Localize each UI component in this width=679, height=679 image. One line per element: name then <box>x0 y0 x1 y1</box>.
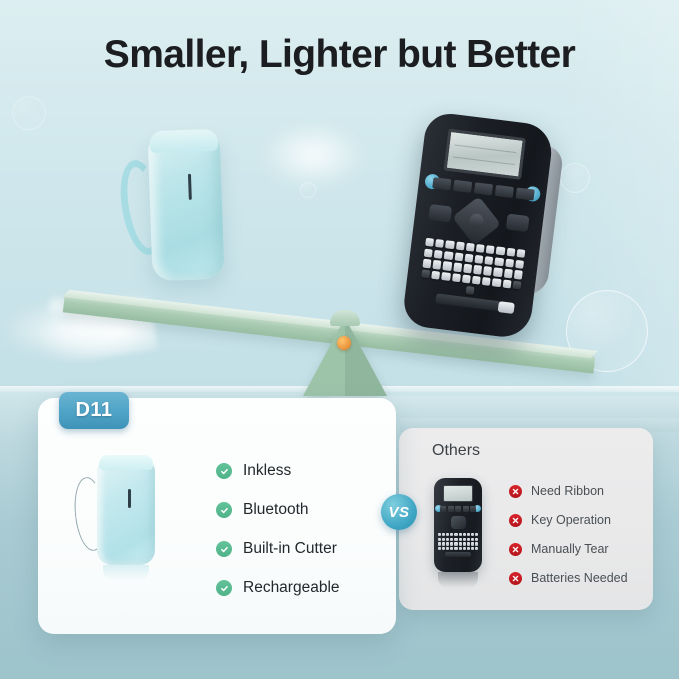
list-item-label: Need Ribbon <box>531 484 604 498</box>
check-circle-icon <box>216 502 232 518</box>
handheld-label-maker-icon <box>401 111 554 340</box>
list-item-label: Rechargeable <box>243 579 340 597</box>
printer-reflection <box>103 565 149 581</box>
d11-badge-label: D11 <box>75 399 112 422</box>
printer-body <box>148 135 225 281</box>
handheld-label-maker-icon <box>434 478 482 572</box>
list-item: Need Ribbon <box>509 484 628 498</box>
list-item-label: Inkless <box>243 462 291 480</box>
cross-circle-icon <box>509 514 522 527</box>
printer-paper-slit <box>128 489 131 508</box>
list-item: Key Operation <box>509 513 628 527</box>
d11-product-badge: D11 <box>59 392 129 429</box>
list-item-label: Key Operation <box>531 513 611 527</box>
d11-mini-printer-icon <box>97 455 155 565</box>
left-function-key <box>428 204 452 223</box>
product-comparison-image: Smaller, Lighter but Better <box>0 0 679 679</box>
printer-body <box>97 461 155 565</box>
navigation-pad-icon <box>457 202 497 240</box>
page-title: Smaller, Lighter but Better <box>0 33 679 77</box>
others-card-title: Others <box>432 442 480 460</box>
cross-circle-icon <box>509 485 522 498</box>
list-item: Rechargeable <box>216 579 340 597</box>
cross-circle-icon <box>509 572 522 585</box>
cross-circle-icon <box>509 543 522 556</box>
list-item: Bluetooth <box>216 501 340 519</box>
qwerty-keyboard <box>438 533 478 557</box>
vs-badge-label: VS <box>388 504 409 521</box>
bubble-icon <box>566 290 648 372</box>
printer-cap <box>99 455 153 470</box>
qwerty-keyboard <box>414 237 529 314</box>
cloud-icon <box>258 120 368 190</box>
check-circle-icon <box>216 580 232 596</box>
others-drawback-list: Need Ribbon Key Operation Manually Tear … <box>509 484 628 585</box>
list-item: Inkless <box>216 462 340 480</box>
printer-cap <box>149 129 218 153</box>
list-item: Built-in Cutter <box>216 540 340 558</box>
navigation-pad-icon <box>451 516 466 529</box>
bubble-icon <box>12 96 46 130</box>
list-item: Batteries Needed <box>509 571 628 585</box>
right-function-key <box>506 214 530 233</box>
function-button-row <box>440 506 476 512</box>
label-maker-reflection <box>438 572 478 588</box>
label-maker-lcd-screen <box>443 485 473 502</box>
bubble-icon <box>560 163 590 193</box>
check-circle-icon <box>216 463 232 479</box>
list-item: Manually Tear <box>509 542 628 556</box>
d11-feature-list: Inkless Bluetooth Built-in Cutter Rechar… <box>216 462 340 597</box>
list-item-label: Bluetooth <box>243 501 309 519</box>
check-circle-icon <box>216 541 232 557</box>
list-item-label: Built-in Cutter <box>243 540 337 558</box>
vs-badge: VS <box>381 494 417 530</box>
list-item-label: Manually Tear <box>531 542 609 556</box>
d11-mini-printer-icon <box>147 127 224 281</box>
bubble-icon <box>300 182 316 198</box>
list-item-label: Batteries Needed <box>531 571 628 585</box>
